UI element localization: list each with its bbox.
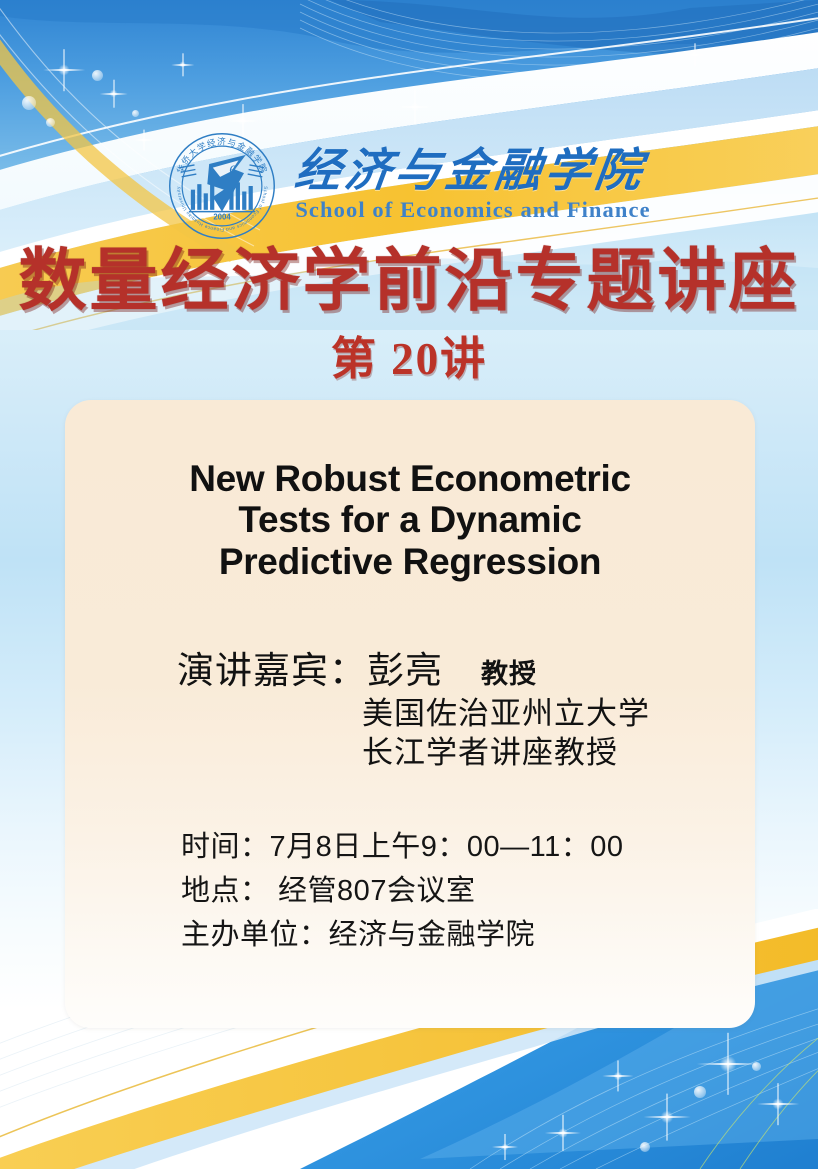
speaker-affiliation: 美国佐治亚州立大学 <box>362 694 737 734</box>
lecture-english-title: New Robust Econometric Tests for a Dynam… <box>105 458 715 582</box>
bokeh-dot <box>694 1086 706 1098</box>
school-header: 华侨大学经济与金融学院 School of Economics and Fina… <box>0 128 818 243</box>
school-emblem-logo: 华侨大学经济与金融学院 School of Economics and Fina… <box>167 131 277 241</box>
bokeh-dot <box>22 96 36 110</box>
logo-year: 2004 <box>214 212 232 221</box>
sparkle-icon <box>500 1142 510 1152</box>
sparkle-icon <box>108 88 119 99</box>
school-name-block: 经济与金融学院 School of Economics and Finance <box>295 148 650 224</box>
en-title-line: Tests for a Dynamic <box>105 499 715 540</box>
sparkle-icon <box>236 114 249 127</box>
bokeh-dot <box>640 1142 650 1152</box>
event-details: 时间：7月8日上午9：00—11：00 地点： 经管807会议室 主办单位：经济… <box>181 825 741 957</box>
event-time: 时间：7月8日上午9：00—11：00 <box>181 825 741 869</box>
school-name-en: School of Economics and Finance <box>295 197 650 223</box>
event-location: 地点： 经管807会议室 <box>181 869 741 913</box>
poster-canvas: 华侨大学经济与金融学院 School of Economics and Fina… <box>0 0 818 1169</box>
event-organizer: 主办单位：经济与金融学院 <box>181 913 741 957</box>
speaker-honor: 长江学者讲座教授 <box>362 733 737 773</box>
lecture-number-subtitle: 第 20讲 <box>0 337 818 382</box>
en-title-line: New Robust Econometric <box>105 458 715 499</box>
bokeh-dot <box>46 118 55 127</box>
bokeh-dot <box>752 1062 761 1071</box>
speaker-role: 教授 <box>481 659 537 689</box>
sparkle-icon <box>56 62 72 78</box>
sparkle-icon <box>612 1070 624 1082</box>
sparkle-icon <box>716 1052 740 1076</box>
speaker-name: 彭亮 <box>367 651 443 692</box>
sparkle-icon <box>178 60 187 69</box>
sparkle-icon <box>770 1096 786 1112</box>
sparkle-icon <box>658 1108 676 1126</box>
bokeh-dot <box>92 70 103 81</box>
speaker-label: 演讲嘉宾： <box>177 651 367 692</box>
bokeh-dot <box>132 110 139 117</box>
sparkle-icon <box>556 1126 570 1140</box>
speaker-name-row: 演讲嘉宾：彭亮教授 <box>177 650 737 694</box>
sparkle-icon <box>690 50 699 59</box>
speaker-block: 演讲嘉宾：彭亮教授 美国佐治亚州立大学 长江学者讲座教授 <box>177 650 737 773</box>
logo-letter-e: e <box>230 160 237 177</box>
en-title-line: Predictive Regression <box>105 541 715 582</box>
page-title: 数量经济学前沿专题讲座 <box>0 247 818 315</box>
content-card: New Robust Econometric Tests for a Dynam… <box>65 400 755 1028</box>
sparkle-icon <box>408 100 422 114</box>
school-name-cn: 经济与金融学院 <box>292 148 648 195</box>
